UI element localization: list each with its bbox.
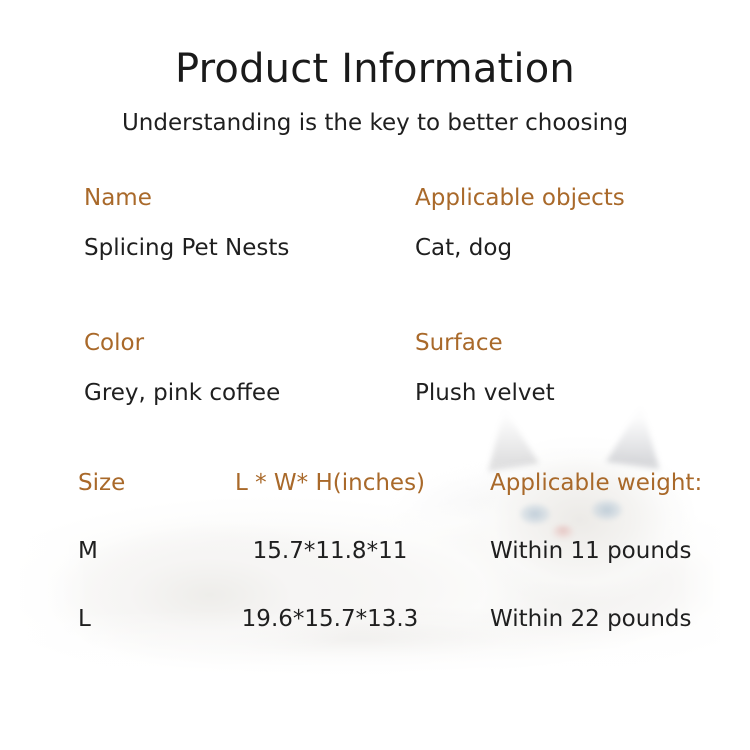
cat-ear-right	[606, 401, 668, 470]
table-row: M 15.7*11.8*11 Within 11 pounds	[0, 538, 750, 606]
cell-weight-m: Within 11 pounds	[490, 538, 740, 564]
spec-label-surface: Surface	[415, 330, 503, 356]
spec-value-name: Splicing Pet Nests	[84, 235, 289, 261]
size-table-header-row: Size L * W* H(inches) Applicable weight:	[0, 470, 750, 538]
cell-size-l: L	[78, 606, 168, 632]
cell-dimensions-m: 15.7*11.8*11	[200, 538, 460, 564]
spec-label-applicable-objects: Applicable objects	[415, 185, 625, 211]
cell-size-m: M	[78, 538, 168, 564]
header-applicable-weight: Applicable weight:	[490, 470, 740, 496]
spec-value-applicable-objects: Cat, dog	[415, 235, 512, 261]
table-row: L 19.6*15.7*13.3 Within 22 pounds	[0, 606, 750, 674]
spec-value-color: Grey, pink coffee	[84, 380, 280, 406]
page-title: Product Information	[0, 46, 750, 92]
page-subtitle: Understanding is the key to better choos…	[0, 110, 750, 136]
cat-ear-left	[479, 404, 540, 471]
header-dimensions: L * W* H(inches)	[200, 470, 460, 496]
size-table: Size L * W* H(inches) Applicable weight:…	[0, 470, 750, 674]
photo-fade-top	[0, 400, 750, 460]
product-information-page: Product Information Understanding is the…	[0, 0, 750, 750]
cell-dimensions-l: 19.6*15.7*13.3	[200, 606, 460, 632]
spec-value-surface: Plush velvet	[415, 380, 555, 406]
cell-weight-l: Within 22 pounds	[490, 606, 740, 632]
header-size: Size	[78, 470, 168, 496]
spec-label-color: Color	[84, 330, 144, 356]
spec-label-name: Name	[84, 185, 152, 211]
